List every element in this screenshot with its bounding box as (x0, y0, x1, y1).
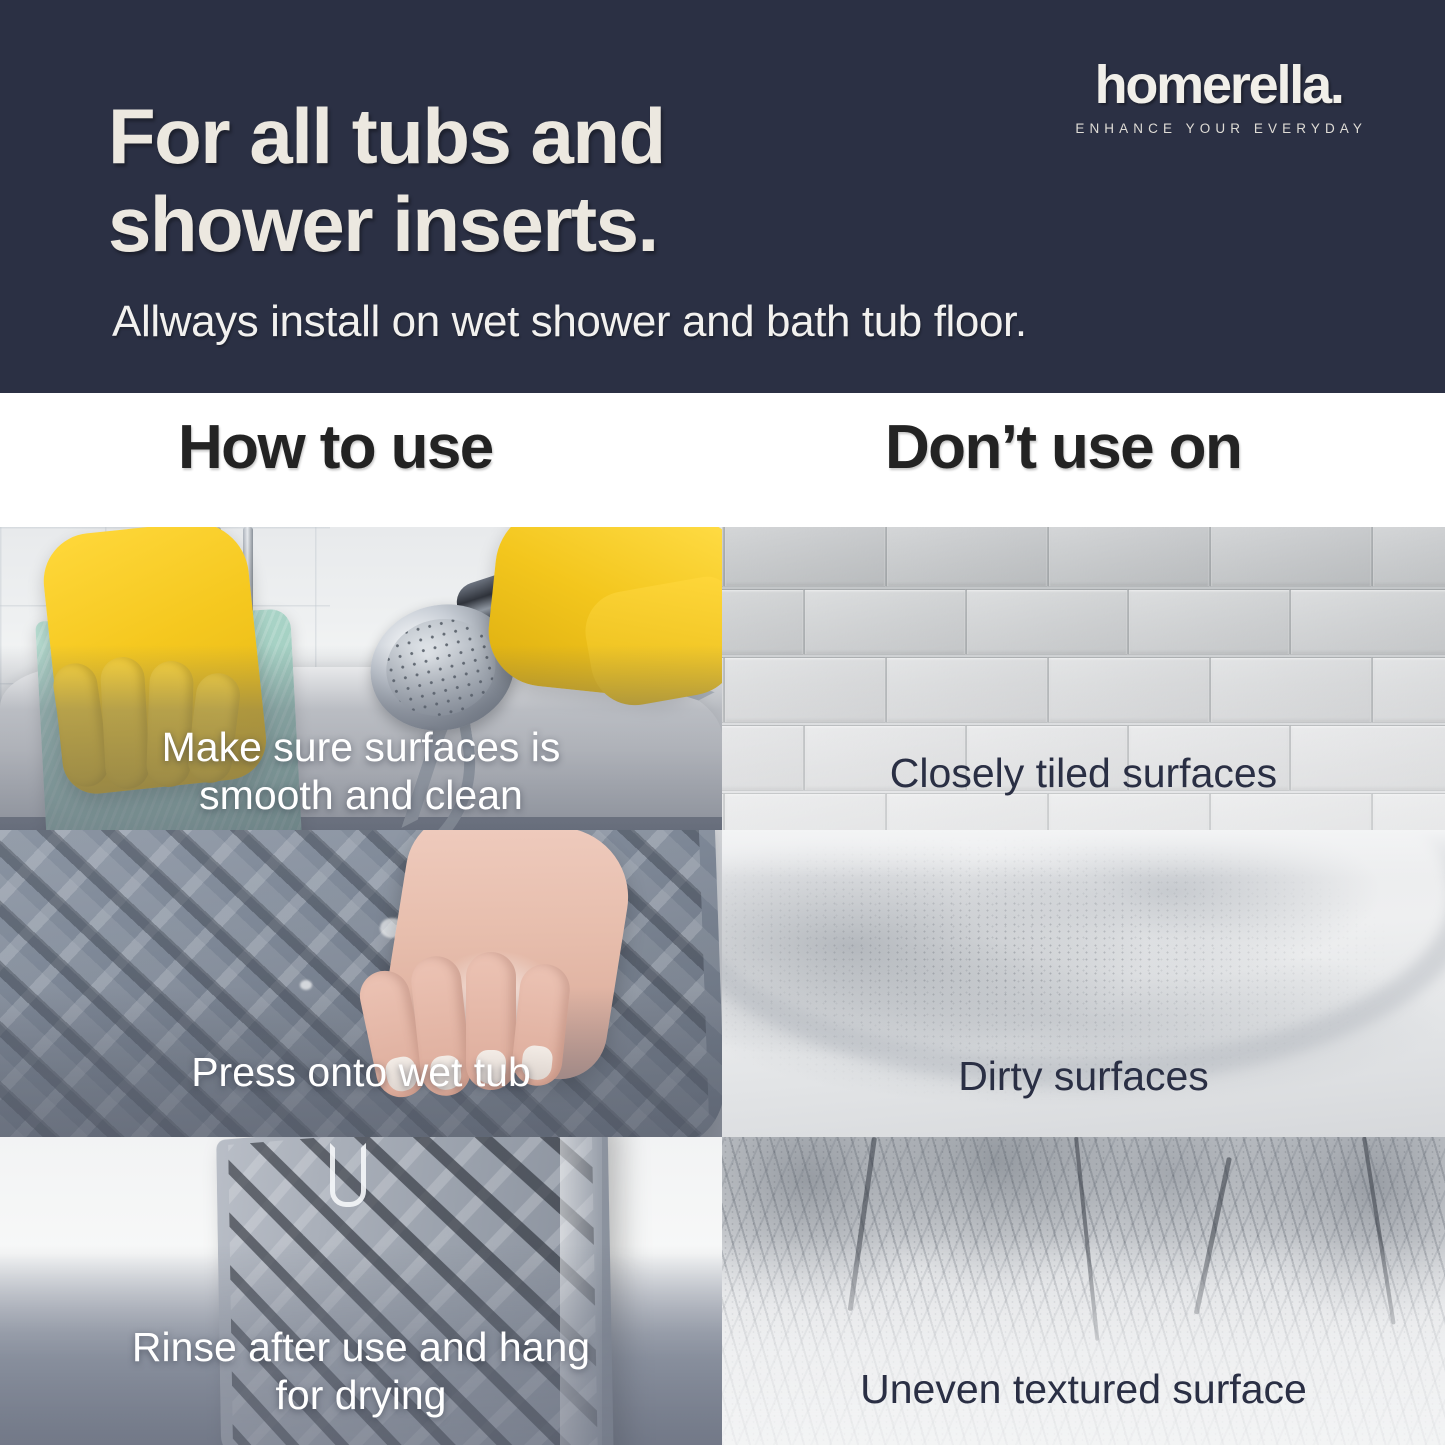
step-caption-2: Press onto wet tub (0, 1048, 722, 1096)
tile-row (722, 527, 1445, 589)
caption-scrim (722, 1235, 1445, 1445)
warning-caption-2: Dirty surfaces (722, 1052, 1445, 1100)
step-cell-rinse-and-hang: Rinse after use and hang for drying (0, 1137, 722, 1445)
warning-cell-uneven-surface: Uneven textured surface (722, 1137, 1445, 1445)
how-to-use-heading: How to use (178, 417, 493, 479)
dont-use-on-heading: Don’t use on (885, 417, 1241, 479)
warning-caption-3: Uneven textured surface (722, 1365, 1445, 1413)
header-subtitle: Allways install on wet shower and bath t… (112, 296, 1262, 349)
brand-tagline: ENHANCE YOUR EVERYDAY (1070, 122, 1367, 136)
hanging-hook-icon (330, 1143, 366, 1207)
warning-cell-tiled-surface: Closely tiled surfaces (722, 527, 1445, 830)
brand-logo: homerella. ENHANCE YOUR EVERYDAY (1070, 58, 1367, 136)
step-caption-3-line2: for drying (0, 1371, 722, 1419)
step-cell-press-mat: Press onto wet tub (0, 830, 722, 1137)
instruction-grid: Make sure surfaces is smooth and clean (0, 527, 1445, 1445)
warning-cell-dirty-surface: Dirty surfaces (722, 830, 1445, 1137)
step-caption-3-line1: Rinse after use and hang (0, 1323, 722, 1371)
tub-rim-highlight (722, 830, 1445, 878)
step-cell-clean-surface: Make sure surfaces is smooth and clean (0, 527, 722, 830)
step-caption-1: Make sure surfaces is smooth and clean (0, 723, 722, 820)
tile-row (722, 589, 1445, 657)
page-title: For all tubs and shower inserts. (108, 92, 868, 268)
header-banner: For all tubs and shower inserts. Allways… (0, 0, 1445, 393)
section-heading-band: How to use Don’t use on (0, 393, 1445, 527)
step-caption-1-line2: smooth and clean (0, 771, 722, 819)
product-infographic: For all tubs and shower inserts. Allways… (0, 0, 1445, 1445)
brand-wordmark: homerella. (1070, 58, 1367, 112)
step-caption-1-line1: Make sure surfaces is (0, 723, 722, 771)
warning-caption-1: Closely tiled surfaces (722, 749, 1445, 797)
step-caption-3: Rinse after use and hang for drying (0, 1323, 722, 1420)
